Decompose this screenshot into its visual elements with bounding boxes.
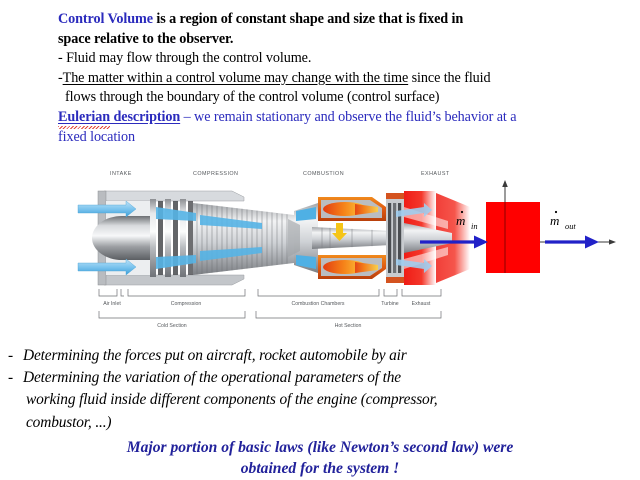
bracket-label-combustion-chambers: Combustion Chambers xyxy=(291,301,344,307)
closing-line-2: obtained for the system ! xyxy=(0,458,640,479)
slide-closing-block: Major portion of basic laws (like Newton… xyxy=(0,437,640,479)
bracket-row-1-labels: Air Inlet Compression Combustion Chamber… xyxy=(103,301,431,307)
text-line-6-rest: – we remain stationary and observe the f… xyxy=(180,109,516,125)
bottom-bullet-2: -Determining the variation of the operat… xyxy=(8,367,638,389)
turbine-section xyxy=(386,193,404,283)
text-line-1: Control Volume is a region of constant s… xyxy=(58,10,618,30)
bracket-label-turbine: Turbine xyxy=(381,301,399,307)
mdot-in-symbol: m xyxy=(456,213,465,228)
closing-line-1: Major portion of basic laws (like Newton… xyxy=(0,437,640,458)
bracket-row-2 xyxy=(99,311,441,318)
text-line-4-rest: since the fluid xyxy=(408,70,490,86)
bracket-label-exhaust: Exhaust xyxy=(412,301,431,307)
label-combustion: COMBUSTION xyxy=(303,171,344,177)
label-compression: COMPRESSION xyxy=(193,171,238,177)
mdot-in-subscript: in xyxy=(471,222,478,231)
term-eulerian: Eulerian xyxy=(58,108,110,128)
bracket-label-cold-section: Cold Section xyxy=(157,323,187,329)
bottom-bullet-1-dash: - xyxy=(8,345,23,367)
bottom-bullet-2-cont: working fluid inside different component… xyxy=(8,389,638,411)
engine-body xyxy=(78,191,470,285)
text-line-1-rest: is a region of constant shape and size t… xyxy=(153,11,463,27)
mdot-out-subscript: out xyxy=(565,222,576,231)
slide-bottom-block: -Determining the forces put on aircraft,… xyxy=(8,345,638,434)
control-volume-box xyxy=(486,202,540,273)
text-line-2: space relative to the observer. xyxy=(58,30,618,50)
text-line-3: - Fluid may flow through the control vol… xyxy=(58,49,618,69)
bracket-row-1 xyxy=(99,289,441,296)
bottom-bullet-2-dash: - xyxy=(8,367,23,389)
label-exhaust: EXHAUST xyxy=(421,171,450,177)
bracket-label-hot-section: Hot Section xyxy=(335,323,362,329)
text-line-4: -The matter within a control volume may … xyxy=(58,69,618,89)
combustion-chamber-lower xyxy=(318,255,386,279)
bottom-bullet-2-cont2: combustor, ...) xyxy=(8,412,638,434)
text-line-6: Eulerian description – we remain station… xyxy=(58,108,618,128)
term-control-volume: Control Volume xyxy=(58,11,153,27)
combustion-chamber-upper xyxy=(318,197,386,221)
text-line-4-underlined: The matter within a control volume may c… xyxy=(63,70,409,86)
bottom-bullet-2-text: Determining the variation of the operati… xyxy=(23,369,401,386)
exhaust-nozzle xyxy=(404,191,470,285)
bottom-bullet-1-text: Determining the forces put on aircraft, … xyxy=(23,347,407,364)
axis-vertical-arrowhead xyxy=(502,180,508,187)
bracket-label-air-inlet: Air Inlet xyxy=(103,301,121,307)
bottom-bullet-1: -Determining the forces put on aircraft,… xyxy=(8,345,638,367)
text-line-5: flows through the boundary of the contro… xyxy=(58,88,618,108)
mass-flow-out-arrow xyxy=(545,236,599,249)
slide-text-block: Control Volume is a region of constant s… xyxy=(58,10,618,147)
label-intake: INTAKE xyxy=(110,171,132,177)
mdot-out-symbol: m xyxy=(550,213,559,228)
text-line-7: fixed location xyxy=(58,128,618,148)
jet-engine-diagram: INTAKE COMPRESSION COMBUSTION EXHAUST xyxy=(0,163,640,335)
bracket-row-2-labels: Cold Section Hot Section xyxy=(157,323,361,329)
bracket-label-compression: Compression xyxy=(171,301,202,307)
term-eulerian-description: description xyxy=(110,109,180,125)
